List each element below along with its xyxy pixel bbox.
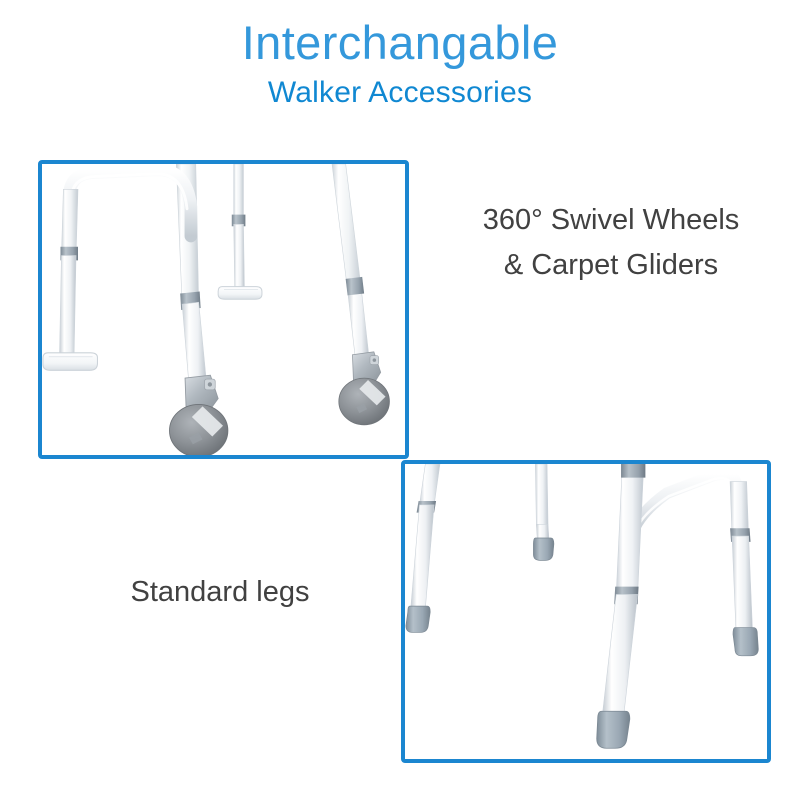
rubber-tip-icon — [733, 628, 758, 656]
callout-swivel-wheels-line2: & Carpet Gliders — [438, 243, 784, 288]
page-title-block: Interchangable Walker Accessories — [0, 18, 800, 111]
callout-swivel-wheels-line1: 360° Swivel Wheels — [438, 198, 784, 243]
rubber-tip-icon — [406, 606, 430, 632]
callout-standard-legs-line1: Standard legs — [70, 572, 370, 613]
page-title: Interchangable — [0, 18, 800, 68]
walker-with-wheels-illustration — [42, 164, 405, 455]
callout-standard-legs: Standard legs — [70, 572, 370, 613]
page-subtitle: Walker Accessories — [0, 74, 800, 112]
callout-swivel-wheels: 360° Swivel Wheels & Carpet Gliders — [438, 198, 784, 288]
rubber-tip-icon — [533, 538, 553, 560]
wheels-panel — [38, 160, 409, 459]
carpet-glider-icon — [43, 353, 98, 371]
rubber-tip-icon — [597, 711, 630, 748]
legs-panel — [401, 460, 771, 763]
infographic-root: Interchangable Walker Accessories — [0, 0, 800, 800]
carpet-glider-icon — [218, 287, 262, 300]
walker-with-standard-legs-illustration — [405, 464, 767, 759]
